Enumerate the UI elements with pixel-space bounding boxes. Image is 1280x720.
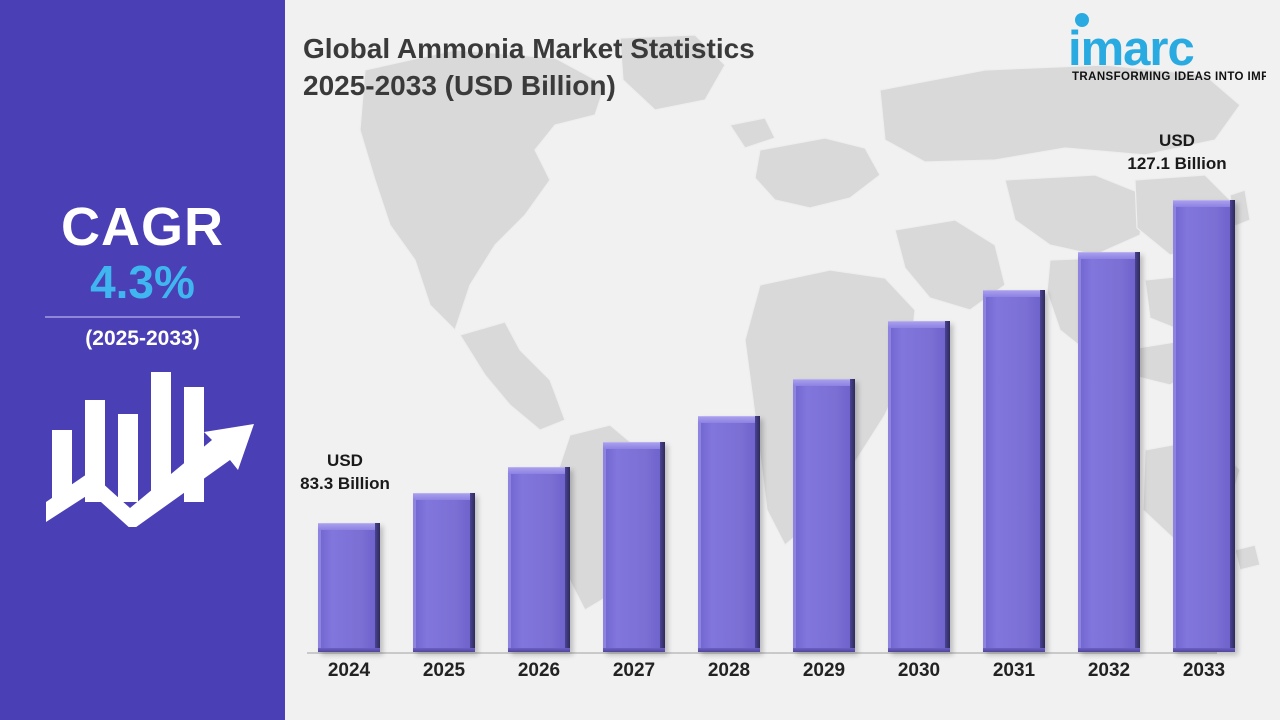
bar-2028 <box>698 416 760 652</box>
x-tick-2031: 2031 <box>983 660 1045 682</box>
bar-bevel-bottom <box>508 648 570 652</box>
bar-bevel-top <box>698 416 760 423</box>
bar-bevel-top <box>318 523 380 530</box>
chart-panel: Global Ammonia Market Statistics 2025-20… <box>285 0 1280 720</box>
bar-bevel-right <box>565 467 570 652</box>
bar-2025 <box>413 493 475 652</box>
bar-2027 <box>603 442 665 652</box>
bar-bevel-bottom <box>698 648 760 652</box>
bar-bevel-bottom <box>603 648 665 652</box>
infographic-canvas: CAGR 4.3% (2025-2033) <box>0 0 1280 720</box>
bar-bevel-bottom <box>1078 648 1140 652</box>
bar-bevel-left <box>888 321 891 652</box>
x-tick-2027: 2027 <box>603 660 665 682</box>
bar-bevel-left <box>508 467 511 652</box>
bar-bevel-right <box>375 523 380 652</box>
bar-2026 <box>508 467 570 652</box>
x-axis-line <box>307 652 1217 654</box>
bar-bevel-top <box>888 321 950 328</box>
bar-bevel-left <box>698 416 701 652</box>
bar-bevel-left <box>983 290 986 652</box>
bar-bevel-bottom <box>888 648 950 652</box>
x-tick-2032: 2032 <box>1078 660 1140 682</box>
value-label-2024: USD 83.3 Billion <box>285 450 415 496</box>
bar-bevel-right <box>755 416 760 652</box>
bar-2031 <box>983 290 1045 652</box>
bar-bevel-bottom <box>318 648 380 652</box>
x-tick-2028: 2028 <box>698 660 760 682</box>
x-tick-2025: 2025 <box>413 660 475 682</box>
bar-bevel-bottom <box>983 648 1045 652</box>
x-tick-2030: 2030 <box>888 660 950 682</box>
bar-bevel-right <box>470 493 475 652</box>
bar-bevel-left <box>413 493 416 652</box>
cagr-period: (2025-2033) <box>0 327 285 351</box>
value-label-2033: USD 127.1 Billion <box>1097 130 1257 176</box>
x-tick-2024: 2024 <box>318 660 380 682</box>
cagr-divider <box>45 316 240 318</box>
bar-bevel-bottom <box>793 648 855 652</box>
bar-bevel-top <box>603 442 665 449</box>
bar-bevel-right <box>1135 252 1140 652</box>
cagr-value: 4.3% <box>0 258 285 306</box>
bar-bevel-left <box>1173 200 1176 652</box>
cagr-block: CAGR 4.3% (2025-2033) <box>0 200 285 351</box>
bar-bevel-right <box>660 442 665 652</box>
bar-bevel-left <box>1078 252 1081 652</box>
bar-bevel-left <box>603 442 606 652</box>
bar-bevel-top <box>793 379 855 386</box>
x-tick-2033: 2033 <box>1173 660 1235 682</box>
bar-bevel-top <box>508 467 570 474</box>
bar-bevel-right <box>1040 290 1045 652</box>
cagr-sidebar: CAGR 4.3% (2025-2033) <box>0 0 285 720</box>
bar-2033 <box>1173 200 1235 652</box>
bar-2030 <box>888 321 950 652</box>
bar-2032 <box>1078 252 1140 652</box>
bar-bevel-right <box>945 321 950 652</box>
x-tick-2026: 2026 <box>508 660 570 682</box>
bar-bevel-right <box>1230 200 1235 652</box>
bar-bevel-bottom <box>413 648 475 652</box>
cagr-label: CAGR <box>0 200 285 254</box>
bar-bevel-bottom <box>1173 648 1235 652</box>
bar-bevel-left <box>318 523 321 652</box>
bar-2024 <box>318 523 380 652</box>
bar-chart-growth-arrow-icon <box>42 362 257 527</box>
x-tick-2029: 2029 <box>793 660 855 682</box>
bar-2029 <box>793 379 855 652</box>
bar-bevel-top <box>1078 252 1140 259</box>
plot-area: USD 83.3 Billion USD 127.1 Billion <box>285 0 1280 720</box>
bar-bevel-top <box>413 493 475 500</box>
bar-bevel-right <box>850 379 855 652</box>
bar-bevel-left <box>793 379 796 652</box>
bar-bevel-top <box>1173 200 1235 207</box>
bar-bevel-top <box>983 290 1045 297</box>
